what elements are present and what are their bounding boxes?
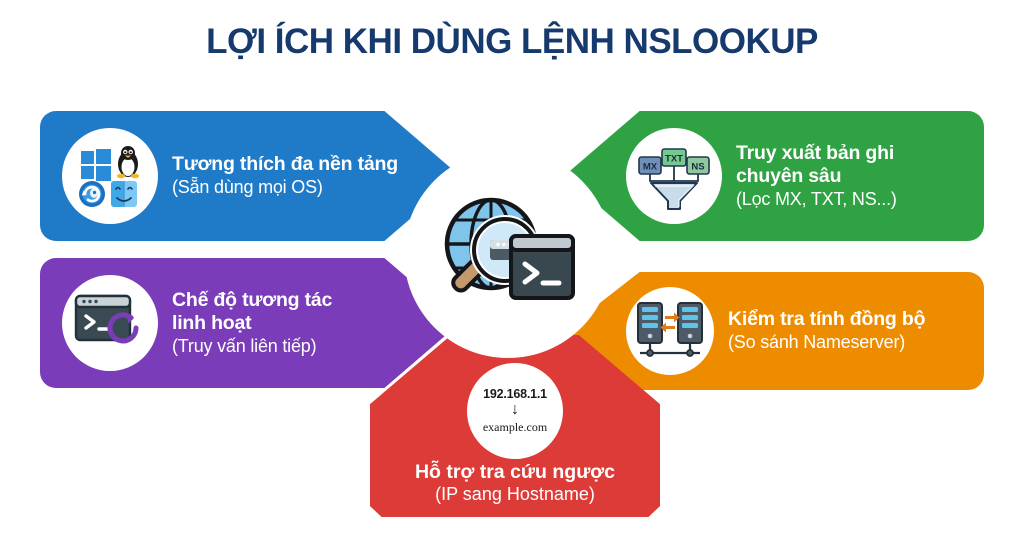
down-arrow-icon: ↓ xyxy=(511,403,519,417)
dns-record-filter-icon: MX TXT NS xyxy=(626,128,722,224)
terminal-refresh-icon xyxy=(62,275,158,371)
benefit-subtext: (Truy vấn liên tiếp) xyxy=(172,336,332,357)
record-tag-ns: NS xyxy=(691,162,704,173)
benefit-card-cross-platform[interactable]: Tương thích đa nền tảng (Sẵn dùng mọi OS… xyxy=(40,111,460,241)
benefit-heading-line1: Truy xuất bản ghi xyxy=(736,142,897,165)
benefit-subtext: (Sẵn dùng mọi OS) xyxy=(172,177,398,198)
benefit-text-sync-check: Kiểm tra tính đồng bộ (So sánh Nameserve… xyxy=(728,308,925,353)
operating-systems-icon xyxy=(62,128,158,224)
globe-magnifier-terminal-icon xyxy=(424,170,592,338)
page-title: LỢI ÍCH KHI DÙNG LỆNH NSLOOKUP xyxy=(0,22,1024,62)
benefit-heading-line1: Chế độ tương tác xyxy=(172,289,332,312)
benefit-text-interactive-mode: Chế độ tương tác linh hoạt (Truy vấn liê… xyxy=(172,289,332,357)
benefit-text-record-lookup: Truy xuất bản ghi chuyên sâu (Lọc MX, TX… xyxy=(736,142,897,210)
benefit-text-reverse-lookup: Hỗ trợ tra cứu ngược (IP sang Hostname) xyxy=(370,461,660,505)
benefit-heading: Hỗ trợ tra cứu ngược xyxy=(370,461,660,484)
benefit-subtext: (Lọc MX, TXT, NS...) xyxy=(736,189,897,210)
infographic-root: LỢI ÍCH KHI DÙNG LỆNH NSLOOKUP xyxy=(0,0,1024,538)
benefit-subtext: (So sánh Nameserver) xyxy=(728,332,925,353)
benefit-card-reverse-lookup[interactable]: 192.168.1.1 ↓ example.com Hỗ trợ tra cứu… xyxy=(370,335,660,517)
example-hostname: example.com xyxy=(483,420,547,435)
benefit-heading: Tương thích đa nền tảng xyxy=(172,153,398,176)
benefit-heading-line2: linh hoạt xyxy=(172,312,332,335)
benefit-heading-line2: chuyên sâu xyxy=(736,165,897,188)
benefit-heading: Kiểm tra tính đồng bộ xyxy=(728,308,925,331)
example-ip-address: 192.168.1.1 xyxy=(483,387,547,401)
record-tag-txt: TXT xyxy=(665,154,683,165)
benefit-text-cross-platform: Tương thích đa nền tảng (Sẵn dùng mọi OS… xyxy=(172,153,398,198)
record-tag-mx: MX xyxy=(643,162,658,173)
reverse-dns-icon: 192.168.1.1 ↓ example.com xyxy=(467,363,563,459)
benefit-card-record-lookup[interactable]: MX TXT NS Truy xuất bản ghi xyxy=(564,111,984,241)
benefit-subtext: (IP sang Hostname) xyxy=(370,484,660,505)
